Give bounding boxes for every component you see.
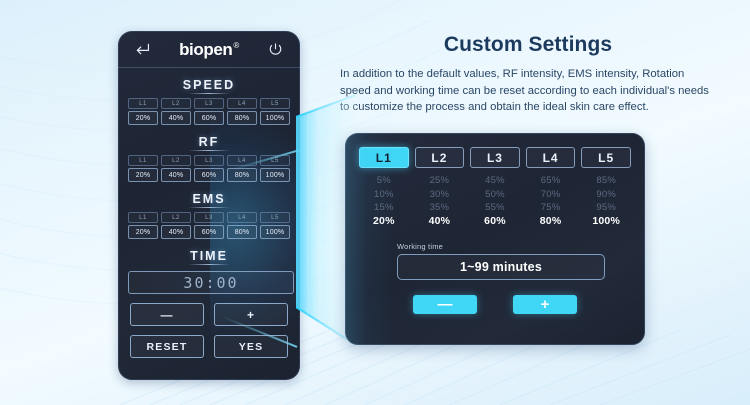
level-cell[interactable]: L4 80% <box>227 98 257 125</box>
level-row-rf: L1 20% L2 40% L3 60% L4 80% L5 100% <box>128 155 290 182</box>
level-tab-l1[interactable]: L1 <box>359 147 409 168</box>
percentage-option[interactable]: 30% <box>415 188 465 202</box>
level-cell[interactable]: L1 20% <box>128 98 158 125</box>
section-title-speed: SPEED <box>128 78 290 92</box>
percentage-selected[interactable]: 20% <box>359 215 409 229</box>
level-row-speed: L1 20% L2 40% L3 60% L4 80% L5 100% <box>128 98 290 125</box>
level-cell[interactable]: L3 60% <box>194 212 224 239</box>
time-increase-button[interactable]: + <box>214 303 288 326</box>
percentage-option[interactable]: 5% <box>359 174 409 188</box>
page-root: Custom Settings In addition to the defau… <box>0 0 750 405</box>
percentage-option[interactable]: 15% <box>359 201 409 215</box>
level-cell[interactable]: L5 100% <box>260 98 290 125</box>
level-tag: L1 <box>128 212 158 223</box>
percentage-selected[interactable]: 40% <box>415 215 465 229</box>
level-cell[interactable]: L4 80% <box>227 212 257 239</box>
brand-logo: biopen® <box>179 41 239 58</box>
section-title-time: TIME <box>128 249 290 263</box>
level-tag: L4 <box>227 155 257 166</box>
device-action-row: RESET YES <box>128 335 290 358</box>
percentage-option[interactable]: 25% <box>415 174 465 188</box>
percentage-option[interactable]: 35% <box>415 201 465 215</box>
time-decrease-button[interactable]: — <box>130 303 204 326</box>
time-display: 30:00 <box>128 271 294 294</box>
percentage-option[interactable]: 85% <box>581 174 631 188</box>
level-tag: L2 <box>161 155 191 166</box>
working-time-field[interactable]: 1~99 minutes <box>397 254 605 280</box>
custom-settings-panel: L1 L2 L3 L4 L5 5% 10% 15% 20% 25% 30% 35… <box>345 133 645 345</box>
percentage-option[interactable]: 65% <box>526 174 576 188</box>
percentage-column-l4: 65% 70% 75% 80% <box>526 174 576 228</box>
device-panel: biopen® SPEED L1 20% L2 40% <box>118 31 300 380</box>
return-arrow-icon[interactable] <box>132 39 152 59</box>
time-stepper-row: — + <box>128 303 290 326</box>
working-time-block: Working time 1~99 minutes <box>345 242 645 280</box>
level-tag: L1 <box>128 98 158 109</box>
level-value: 80% <box>227 111 257 125</box>
level-cell[interactable]: L1 20% <box>128 155 158 182</box>
level-tab-l5[interactable]: L5 <box>581 147 631 168</box>
working-time-stepper-row: — + <box>345 295 645 314</box>
level-value: 40% <box>161 225 191 239</box>
level-value: 100% <box>260 225 290 239</box>
level-tab-l4[interactable]: L4 <box>526 147 576 168</box>
level-value: 20% <box>128 168 158 182</box>
level-tab-l2[interactable]: L2 <box>415 147 465 168</box>
level-tag: L3 <box>194 212 224 223</box>
level-tab-l3[interactable]: L3 <box>470 147 520 168</box>
level-tag: L5 <box>260 155 290 166</box>
level-tabs: L1 L2 L3 L4 L5 <box>345 147 645 168</box>
working-time-label: Working time <box>397 242 605 251</box>
level-value: 60% <box>194 168 224 182</box>
level-tag: L4 <box>227 212 257 223</box>
copy-block: Custom Settings In addition to the defau… <box>340 33 716 116</box>
level-cell[interactable]: L1 20% <box>128 212 158 239</box>
level-value: 40% <box>161 168 191 182</box>
level-cell[interactable]: L3 60% <box>194 155 224 182</box>
brand-registered-mark: ® <box>233 41 239 50</box>
device-header: biopen® <box>118 31 300 68</box>
reset-button[interactable]: RESET <box>130 335 204 358</box>
percentage-option[interactable]: 55% <box>470 201 520 215</box>
level-cell[interactable]: L2 40% <box>161 155 191 182</box>
working-time-increase-button[interactable]: + <box>513 295 577 314</box>
level-value: 60% <box>194 225 224 239</box>
level-cell[interactable]: L2 40% <box>161 98 191 125</box>
percentage-grid: 5% 10% 15% 20% 25% 30% 35% 40% 45% 50% 5… <box>345 174 645 228</box>
level-tag: L5 <box>260 98 290 109</box>
level-value: 80% <box>227 225 257 239</box>
level-tag: L4 <box>227 98 257 109</box>
working-time-decrease-button[interactable]: — <box>413 295 477 314</box>
percentage-selected[interactable]: 60% <box>470 215 520 229</box>
level-value: 40% <box>161 111 191 125</box>
confirm-yes-button[interactable]: YES <box>214 335 288 358</box>
percentage-option[interactable]: 45% <box>470 174 520 188</box>
level-tag: L2 <box>161 98 191 109</box>
percentage-selected[interactable]: 80% <box>526 215 576 229</box>
percentage-option[interactable]: 95% <box>581 201 631 215</box>
brand-logo-text: biopen <box>179 40 232 59</box>
level-row-ems: L1 20% L2 40% L3 60% L4 80% L5 100% <box>128 212 290 239</box>
level-value: 20% <box>128 225 158 239</box>
power-icon[interactable] <box>266 39 286 59</box>
section-title-ems: EMS <box>128 192 290 206</box>
percentage-column-l5: 85% 90% 95% 100% <box>581 174 631 228</box>
page-description: In addition to the default values, RF in… <box>340 66 716 116</box>
level-tag: L3 <box>194 98 224 109</box>
section-title-rf: RF <box>128 135 290 149</box>
level-value: 80% <box>227 168 257 182</box>
level-cell[interactable]: L3 60% <box>194 98 224 125</box>
percentage-option[interactable]: 10% <box>359 188 409 202</box>
level-tag: L3 <box>194 155 224 166</box>
percentage-column-l2: 25% 30% 35% 40% <box>415 174 465 228</box>
percentage-option[interactable]: 75% <box>526 201 576 215</box>
level-value: 60% <box>194 111 224 125</box>
level-tag: L5 <box>260 212 290 223</box>
device-body: SPEED L1 20% L2 40% L3 60% L4 80% <box>118 78 300 358</box>
percentage-column-l1: 5% 10% 15% 20% <box>359 174 409 228</box>
level-tag: L1 <box>128 155 158 166</box>
level-cell[interactable]: L2 40% <box>161 212 191 239</box>
percentage-option[interactable]: 50% <box>470 188 520 202</box>
percentage-option[interactable]: 90% <box>581 188 631 202</box>
percentage-option[interactable]: 70% <box>526 188 576 202</box>
level-value: 20% <box>128 111 158 125</box>
level-value: 100% <box>260 168 290 182</box>
page-title: Custom Settings <box>340 33 716 57</box>
level-value: 100% <box>260 111 290 125</box>
percentage-column-l3: 45% 50% 55% 60% <box>470 174 520 228</box>
level-cell[interactable]: L4 80% <box>227 155 257 182</box>
level-cell[interactable]: L5 100% <box>260 155 290 182</box>
level-tag: L2 <box>161 212 191 223</box>
percentage-selected[interactable]: 100% <box>581 215 631 229</box>
level-cell[interactable]: L5 100% <box>260 212 290 239</box>
